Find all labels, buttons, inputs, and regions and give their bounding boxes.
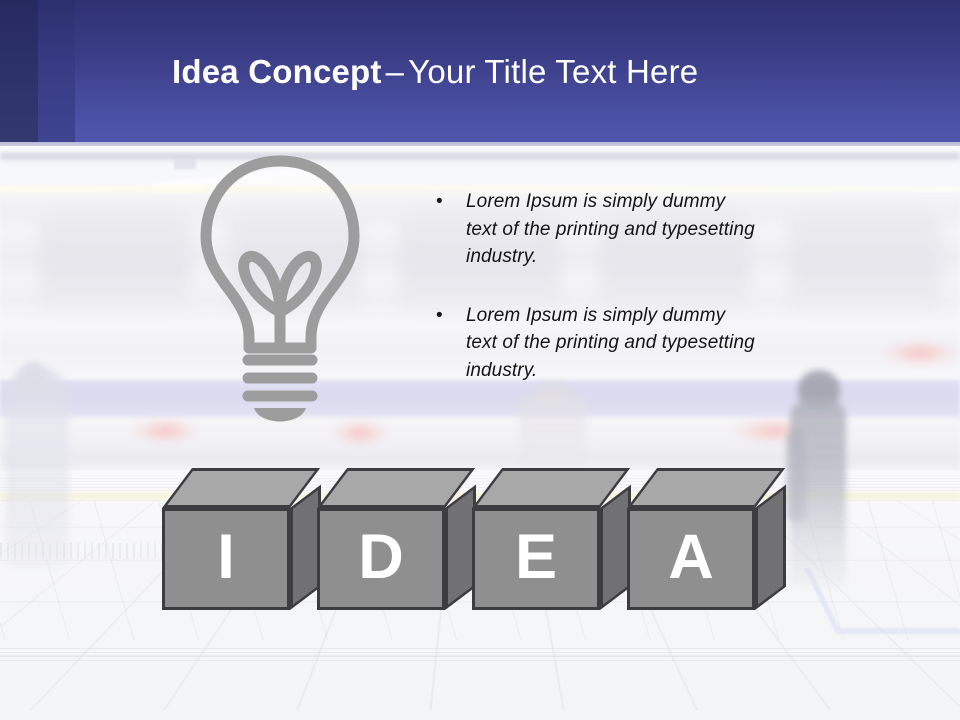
list-item: • Lorem Ipsum is simply dummy text of th… [430, 302, 760, 385]
slide-canvas: Idea Concept–Your Title Text Here [0, 0, 960, 720]
cube-letter: D [317, 508, 445, 610]
bullet-text: Lorem Ipsum is simply dummy text of the … [466, 188, 760, 271]
idea-cubes: I D E A [160, 468, 780, 628]
light-bulb-icon [190, 152, 370, 432]
cube-letter: I [162, 508, 290, 610]
photo-person-left [6, 368, 68, 568]
list-item: • Lorem Ipsum is simply dummy text of th… [430, 188, 760, 271]
page-title-bold: Idea Concept [172, 53, 382, 90]
cube-letter: E [472, 508, 600, 610]
bullet-text: Lorem Ipsum is simply dummy text of the … [466, 302, 760, 385]
cube-letter-d: D [317, 508, 445, 610]
photo-taillight-smear [880, 340, 960, 366]
cube-letter-i: I [162, 508, 290, 610]
bullet-marker-icon: • [430, 188, 466, 271]
title-bar-accent-band-mid [38, 0, 75, 142]
page-title: Idea Concept–Your Title Text Here [172, 52, 698, 92]
photo-tactile-paving-front [0, 648, 960, 664]
photo-train-window [790, 215, 940, 311]
bullet-marker-icon: • [430, 302, 466, 385]
photo-train-window [40, 215, 190, 311]
photo-ceiling-beam-3 [0, 152, 960, 161]
page-title-rest: Your Title Text Here [408, 53, 698, 90]
photo-person-right [790, 398, 846, 588]
page-title-separator: – [382, 53, 409, 90]
title-bar-accent-band-dark [0, 0, 38, 142]
cube-letter-a: A [627, 508, 755, 610]
bullet-list: • Lorem Ipsum is simply dummy text of th… [430, 188, 760, 415]
cube-letter-e: E [472, 508, 600, 610]
cube-letter: A [627, 508, 755, 610]
title-bar-underline [0, 142, 960, 146]
